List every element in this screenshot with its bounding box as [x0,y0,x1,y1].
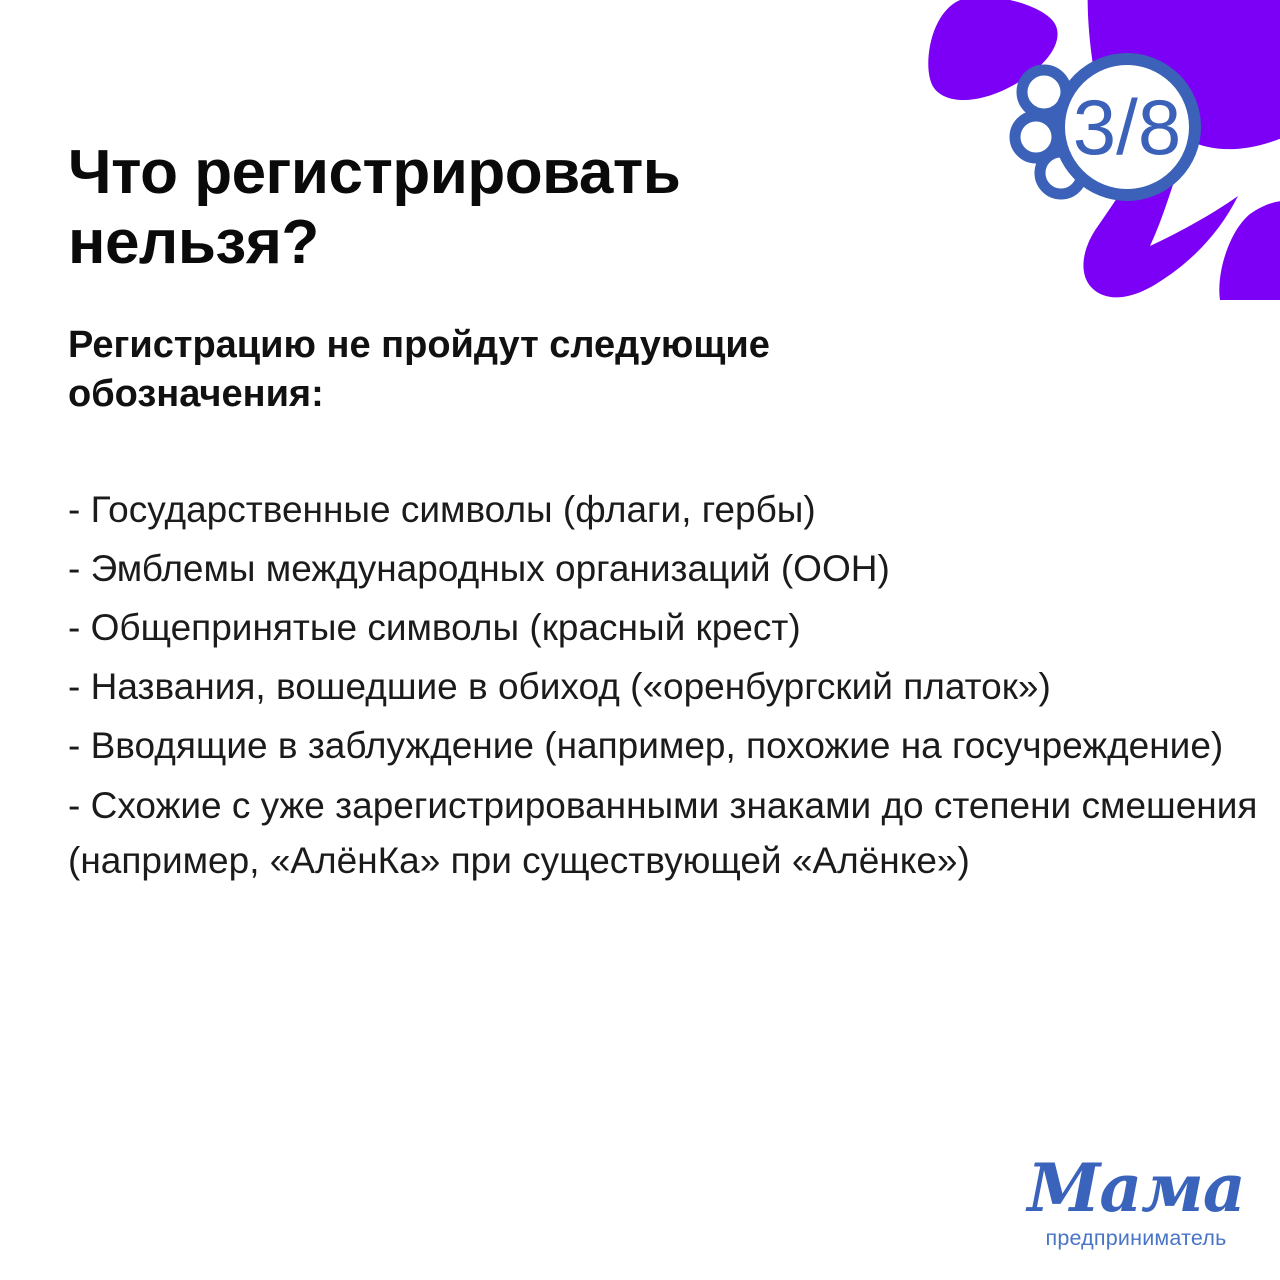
slide-canvas: 3/8 Что регистрировать нельзя? Регистрац… [0,0,1280,1280]
list-item: - Названия, вошедшие в обиход («оренбург… [68,659,1258,714]
brand-logo: Мама предприниматель [1012,1156,1260,1250]
brand-logo-tagline: предприниматель [1012,1227,1260,1251]
list-item: - Общепринятые символы (красный крест) [68,600,1258,655]
content-column: Что регистрировать нельзя? Регистрацию н… [68,0,1258,892]
restrictions-list: - Государственные символы (флаги, гербы)… [68,420,1258,888]
list-item: - Эмблемы международных организаций (ООН… [68,541,1258,596]
brand-logo-script: Мама [1012,1156,1260,1221]
page-title: Что регистрировать нельзя? [68,0,848,278]
list-item: - Государственные символы (флаги, гербы) [68,482,1258,537]
list-item: - Схожие с уже зарегистрированными знака… [68,778,1258,888]
list-item: - Вводящие в заблуждение (например, похо… [68,718,1258,773]
page-subtitle: Регистрацию не пройдут следующие обознач… [68,278,973,420]
